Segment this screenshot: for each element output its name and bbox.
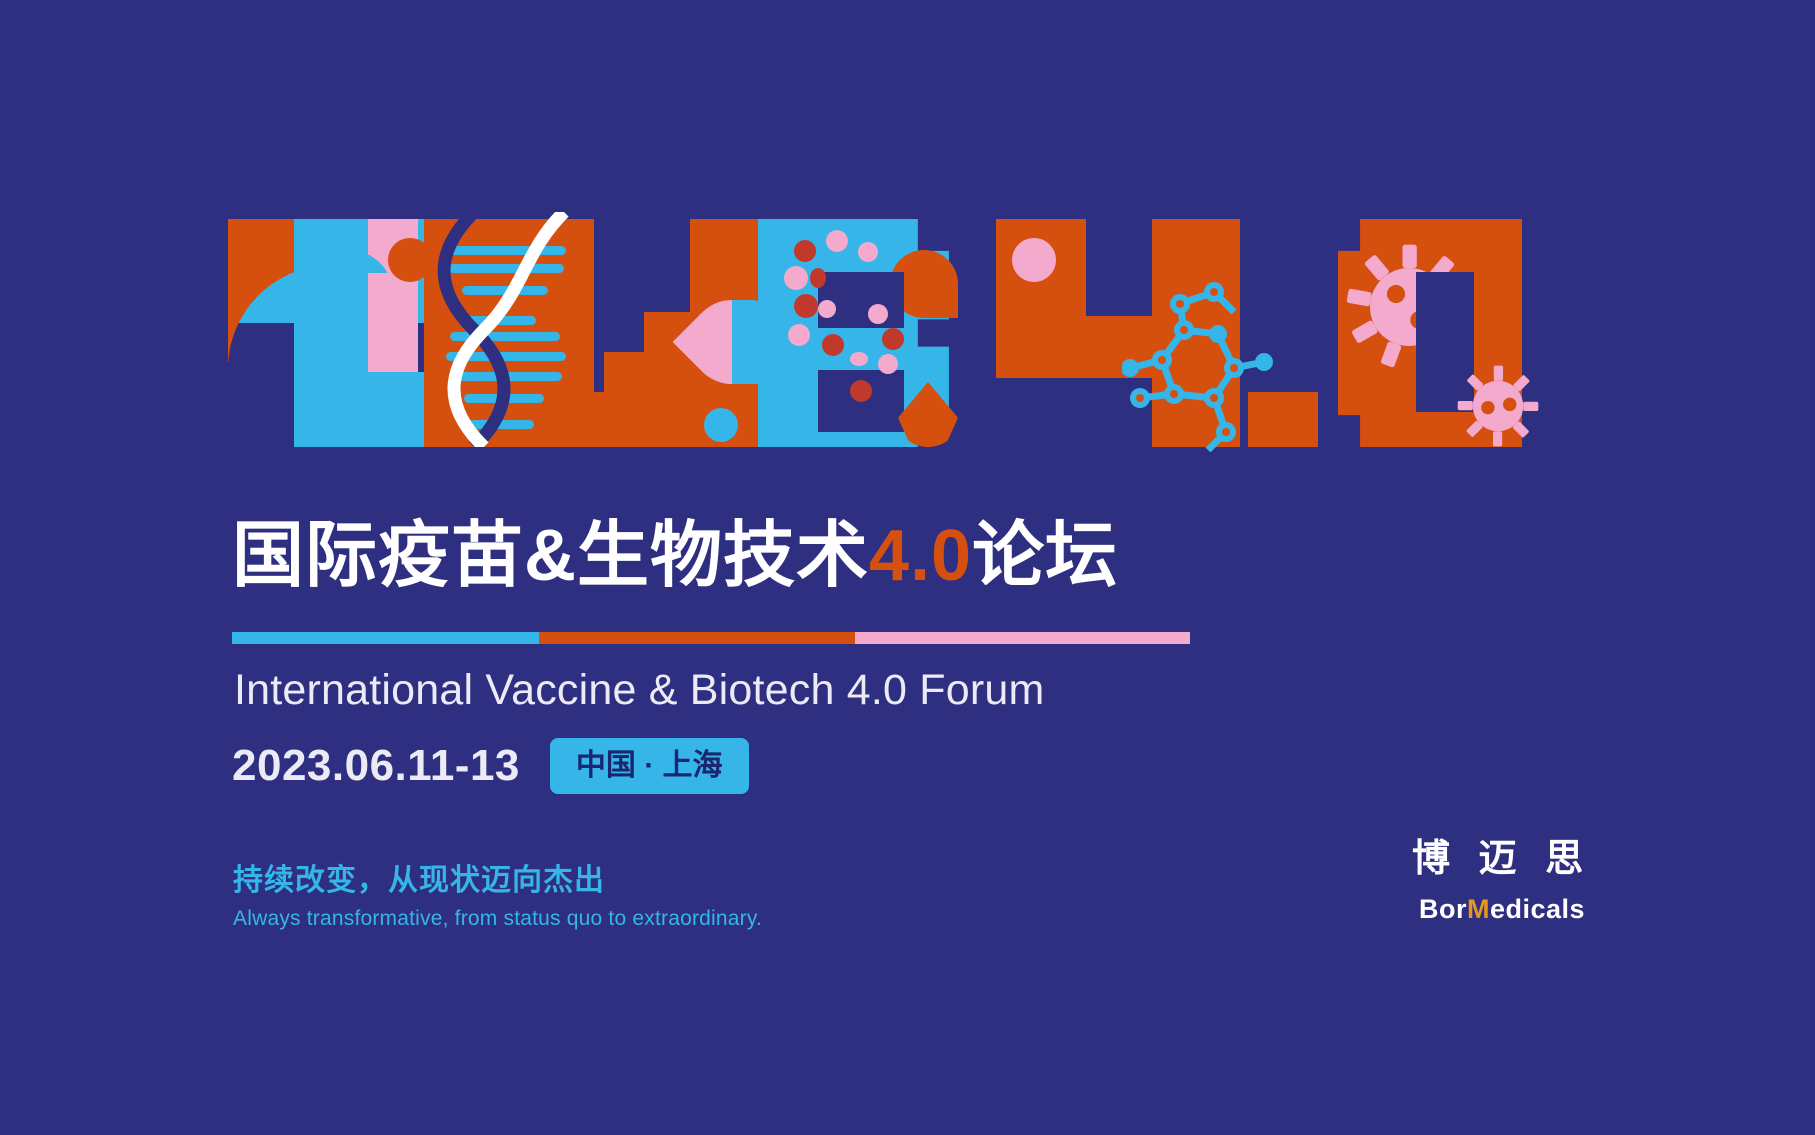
logo-digit-0 [1338,212,1522,447]
brand-en-accent: M [1467,894,1490,924]
brand-en-before: Bor [1419,894,1467,924]
divider-segment-orange [539,632,855,644]
logotype-ivb40 [228,212,1522,447]
logo-digit-4 [996,212,1246,447]
brand-name-chinese: 博 迈 思 [1412,840,1592,878]
decimal-square [1248,392,1318,447]
headline-cn-suffix: 论坛 [972,516,1118,596]
virus-particle-small-icon [1456,364,1540,448]
tricolor-divider [232,632,1190,644]
brand-en-after: edicals [1490,894,1585,924]
divider-segment-pink [855,632,1190,644]
event-location-badge: 中国 · 上海 [550,738,749,794]
logo-letter-b [758,212,988,447]
headline-english: International Vaccine & Biotech 4.0 Foru… [234,666,1045,715]
cyan-circle-dot-icon [704,408,738,442]
divider-segment-cyan [232,632,539,644]
step-block-4 [594,392,616,447]
logo-step-block [594,212,774,447]
pink-circle-dot-icon [1012,238,1056,282]
poster-canvas: 国际疫苗&生物技术4.0论坛 International Vaccine & B… [0,0,1815,1135]
brand-name-english: BorMedicals [1412,896,1592,923]
headline-chinese: 国际疫苗&生物技术4.0论坛 [232,520,1118,592]
event-details-row: 2023.06.11-13 中国 · 上海 [232,738,749,794]
logo-letter-v [424,212,594,447]
brand-logo: 博 迈 思 BorMedicals [1412,840,1592,923]
headline-cn-prefix: 国际疫苗&生物技术 [232,516,869,596]
logo-decimal-point [1248,212,1318,447]
event-date: 2023.06.11-13 [232,744,520,788]
tagline-chinese: 持续改变，从现状迈向杰出 [233,855,605,899]
headline-cn-accent: 4.0 [869,516,972,596]
dna-helix-icon [416,212,602,447]
tagline-english: Always transformative, from status quo t… [233,907,762,931]
